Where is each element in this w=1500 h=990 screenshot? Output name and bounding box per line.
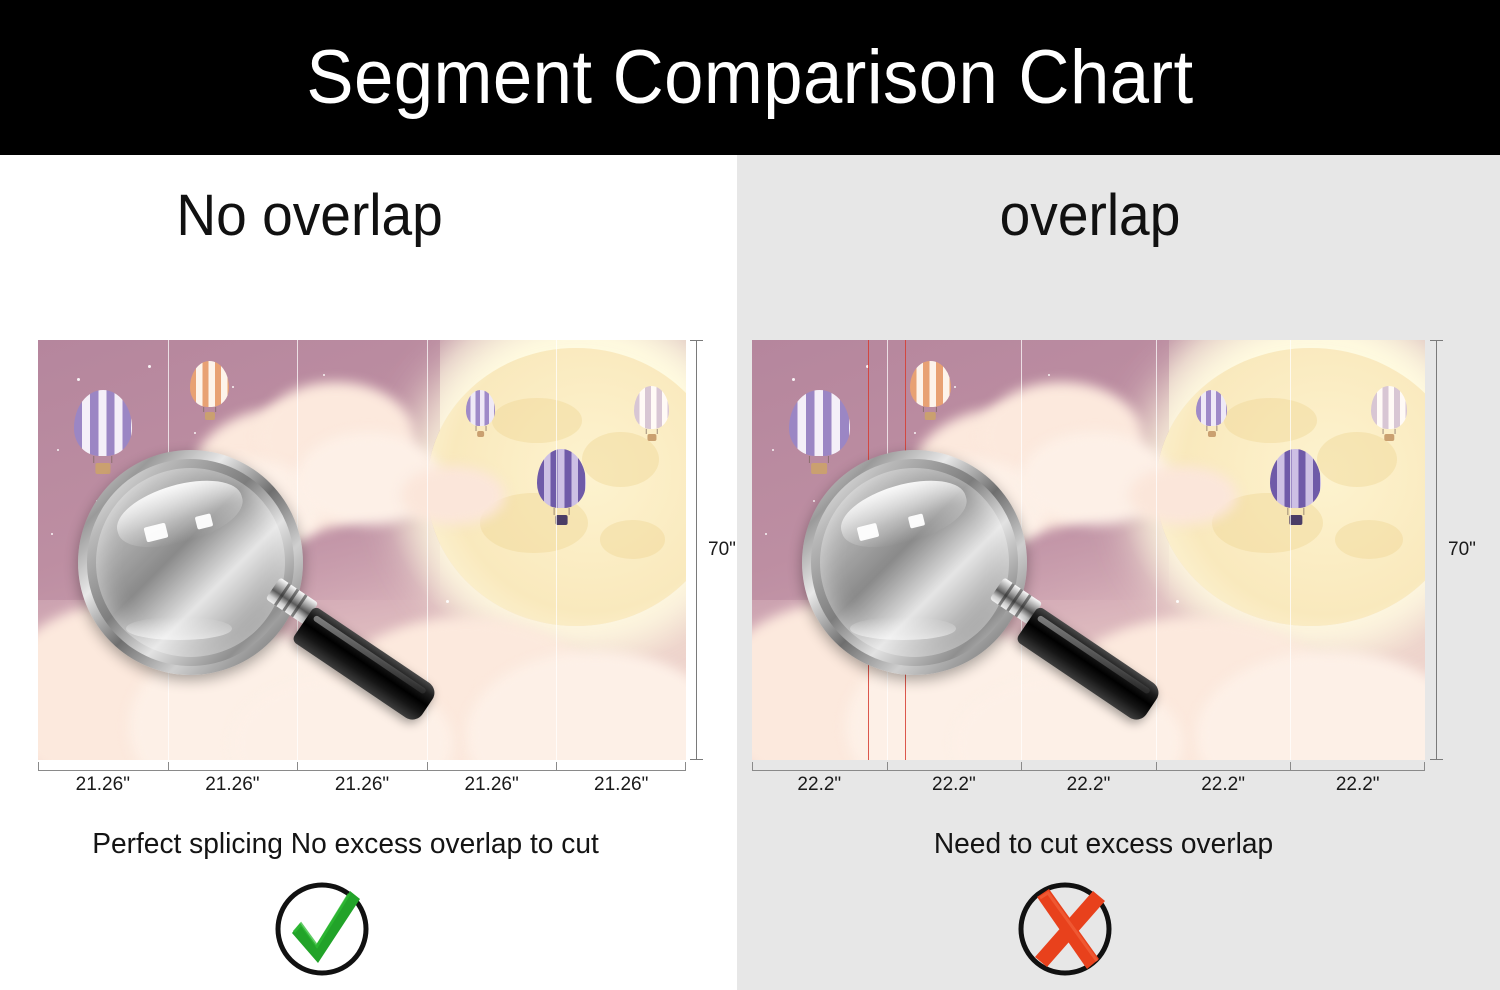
- segment-comparison-page: Segment Comparison Chart No overlap: [0, 0, 1500, 990]
- balloon-purple-big: [1270, 449, 1321, 525]
- comparison-panels: No overlap: [0, 155, 1500, 990]
- segment-label: 22.2": [797, 774, 841, 796]
- panel-overlap: overlap: [737, 155, 1500, 990]
- check-mark-icon: [270, 877, 374, 981]
- balloon-white-right: [1371, 386, 1407, 441]
- balloon-purple-big: [537, 449, 586, 525]
- segment-ruler-overlap: 22.2" 22.2" 22.2" 22.2" 22.2": [752, 770, 1425, 798]
- segment-label: 22.2": [1067, 774, 1111, 796]
- cross-mark-icon: [1013, 877, 1117, 981]
- segment-label: 21.26": [205, 774, 259, 796]
- segment-label: 22.2": [932, 774, 976, 796]
- balloon-orange: [910, 361, 950, 420]
- panel-heading-overlap: overlap: [728, 187, 1453, 245]
- mural-no-overlap: 70" 21.26" 21.26" 21.26" 21.26" 21.26": [38, 340, 686, 760]
- segment-label: 22.2": [1336, 774, 1380, 796]
- segment-ruler-no-overlap: 21.26" 21.26" 21.26" 21.26" 21.26": [38, 770, 686, 798]
- mural-image: [752, 340, 1425, 760]
- segment-label: 22.2": [1201, 774, 1245, 796]
- height-label: 70": [1448, 539, 1476, 561]
- mural-seam: [1290, 340, 1291, 760]
- caption-no-overlap: Perfect splicing No excess overlap to cu…: [0, 830, 703, 859]
- magnifying-glass-icon: [802, 450, 1027, 675]
- magnifying-glass-icon: [78, 450, 303, 675]
- balloon-purple-small: [466, 390, 496, 436]
- height-label: 70": [708, 539, 736, 561]
- balloon-orange: [190, 361, 229, 420]
- balloon-white-right: [634, 386, 669, 441]
- segment-label: 21.26": [76, 774, 130, 796]
- height-dimension-overlap: 70": [1430, 340, 1490, 760]
- mural-overlap: 70" 22.2" 22.2" 22.2" 22.2" 22.2": [752, 340, 1425, 760]
- balloon-purple-small: [1196, 390, 1227, 436]
- caption-overlap: Need to cut excess overlap: [733, 830, 1473, 859]
- mural-image: [38, 340, 686, 760]
- page-title: Segment Comparison Chart: [306, 40, 1193, 116]
- mural-seam: [556, 340, 557, 760]
- segment-label: 21.26": [594, 774, 648, 796]
- segment-label: 21.26": [464, 774, 518, 796]
- panel-no-overlap: No overlap: [0, 155, 737, 990]
- segment-label: 21.26": [335, 774, 389, 796]
- title-banner: Segment Comparison Chart: [0, 0, 1500, 155]
- panel-heading-no-overlap: No overlap: [0, 187, 660, 245]
